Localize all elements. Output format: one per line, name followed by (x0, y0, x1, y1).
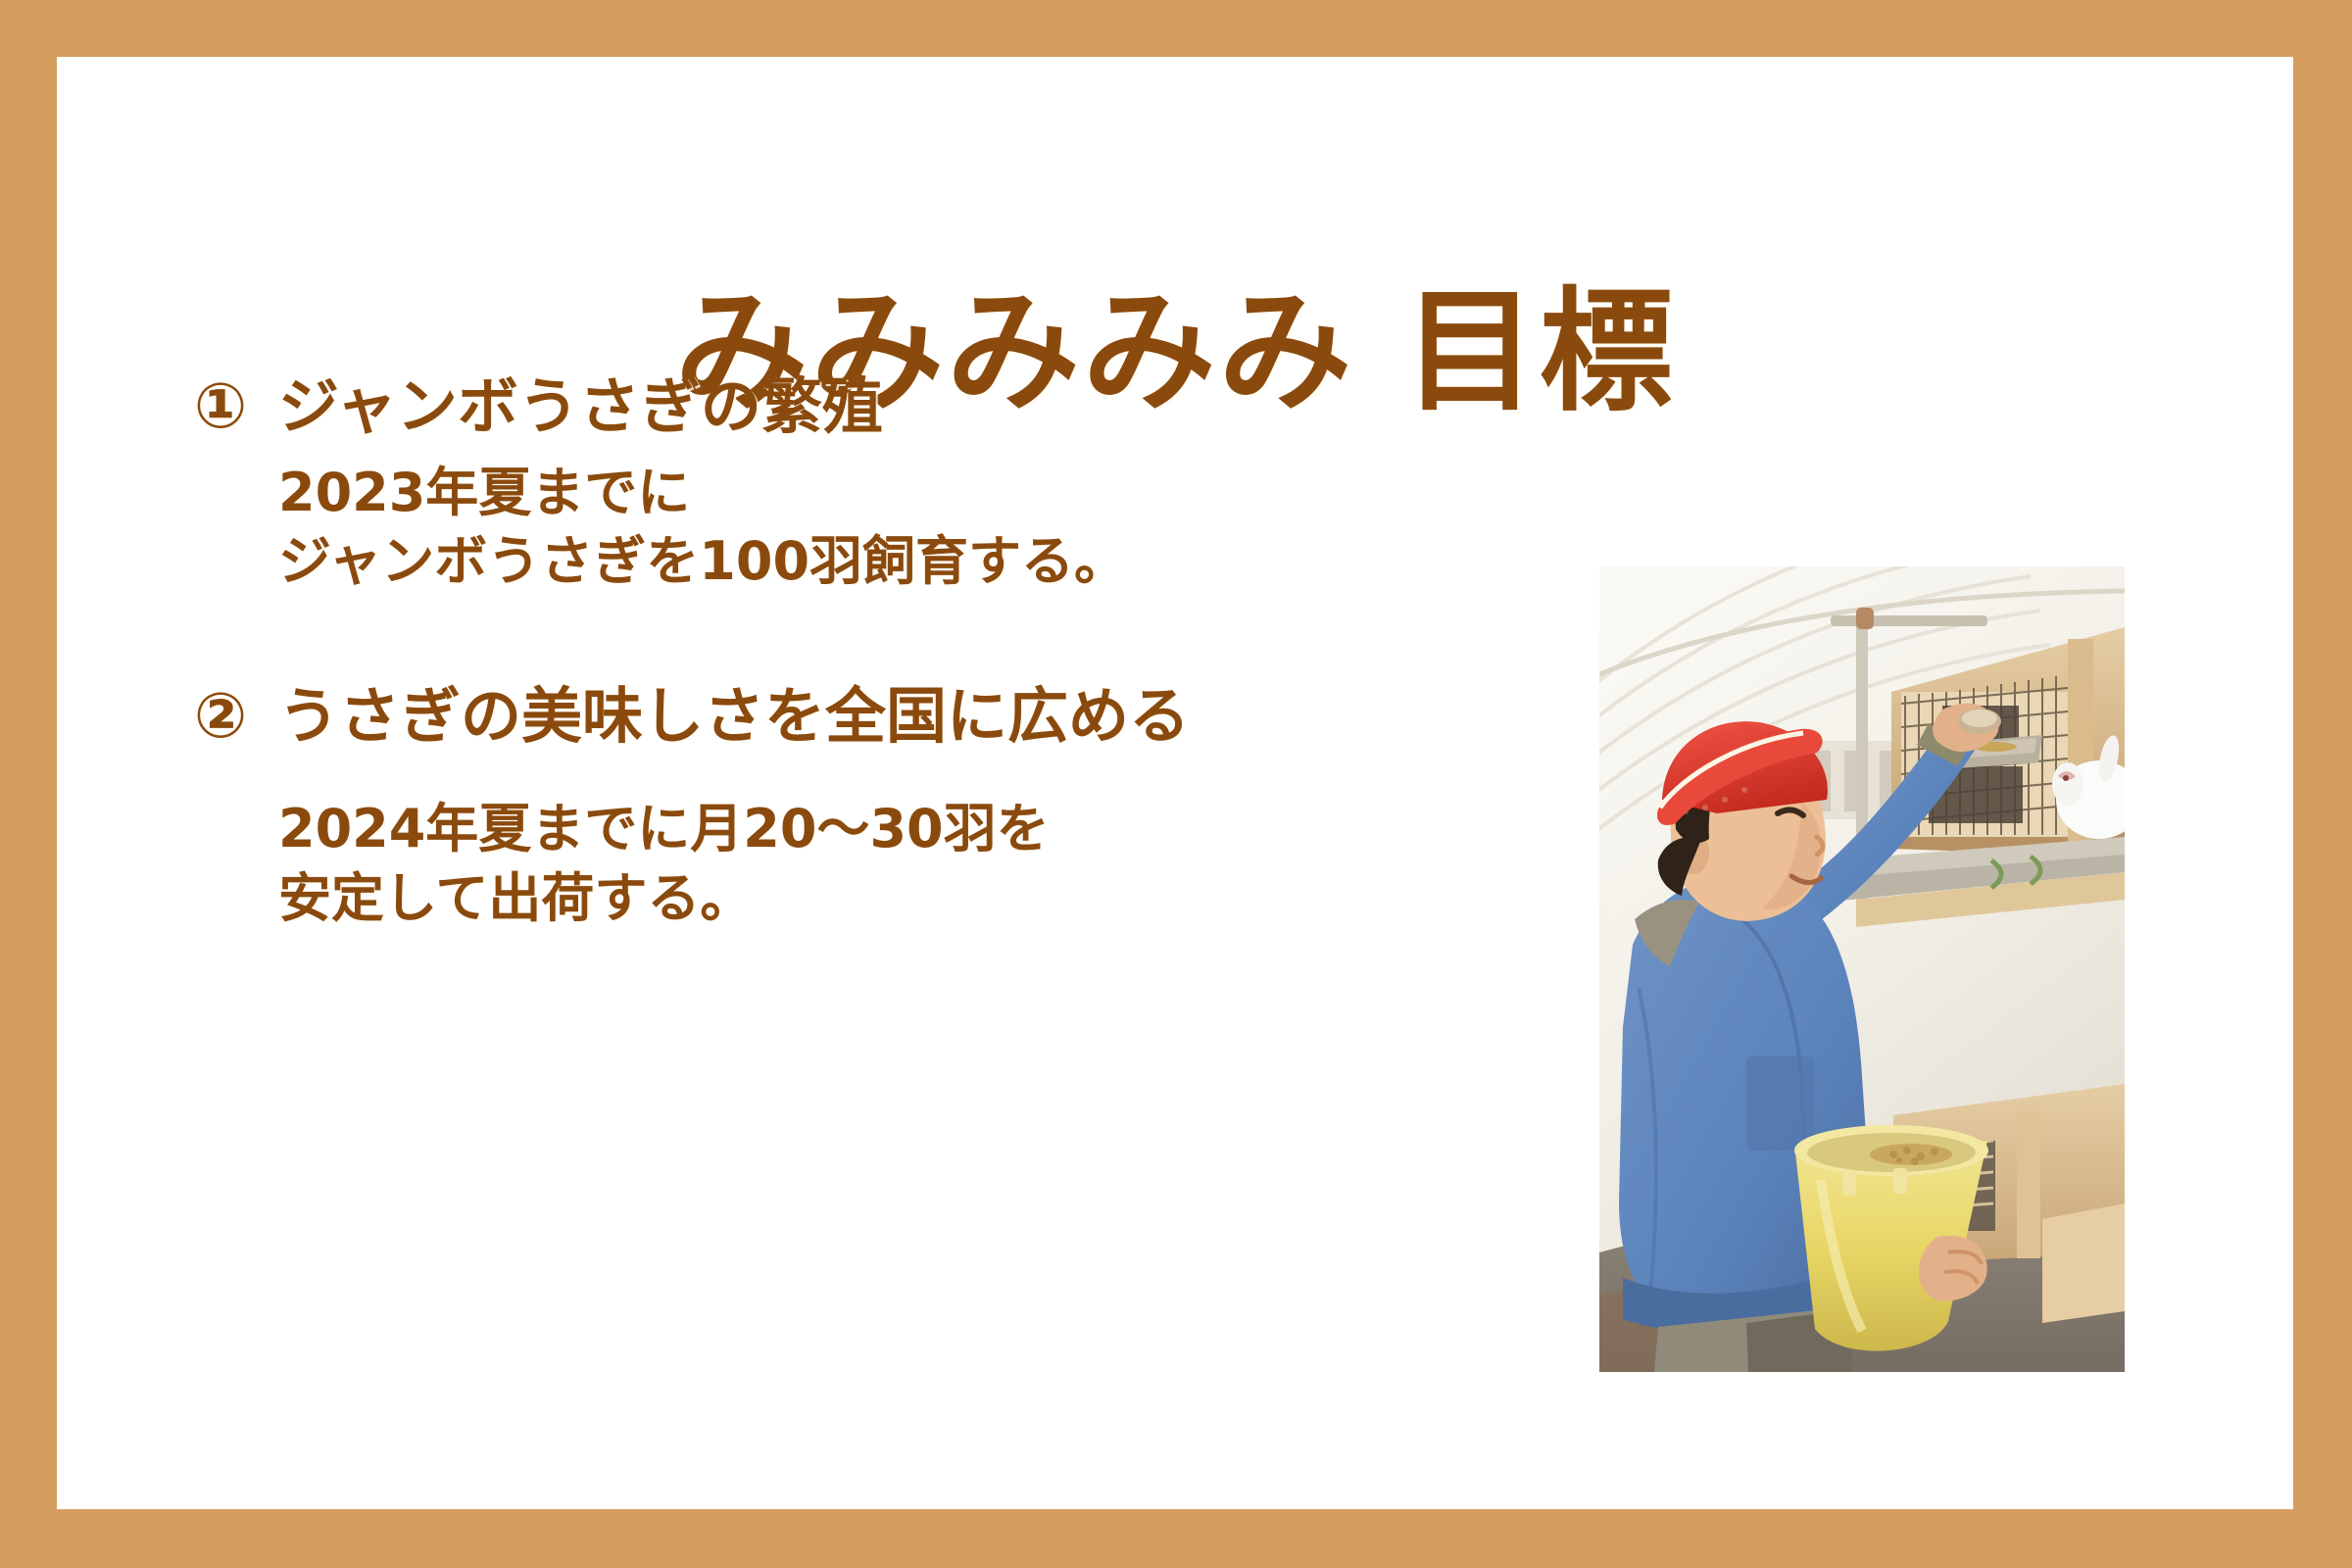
goal-headline-text-1: ジャンボうさぎの繁殖 (278, 370, 883, 442)
goal-marker-1: ① (194, 370, 278, 445)
goal-headline-2: ② うさぎの美味しさを全国に広める (194, 680, 1586, 755)
goal-detail-line: 安定して出荷する。 (278, 864, 1586, 933)
goal-list: ① ジャンボうさぎの繁殖 2023年夏までに ジャンボうさぎを100羽飼育する。… (194, 370, 1586, 933)
goal-item-1: ① ジャンボうさぎの繁殖 2023年夏までに ジャンボうさぎを100羽飼育する。 (194, 370, 1586, 596)
goal-detail-line: ジャンボうさぎを100羽飼育する。 (278, 527, 1586, 596)
slide-frame: みみみみみ 目標 ① ジャンボうさぎの繁殖 2023年夏までに ジャンボうさぎを… (0, 0, 2352, 1568)
goal-item-2: ② うさぎの美味しさを全国に広める 2024年夏までに月20〜30羽を 安定して… (194, 680, 1586, 933)
goal-detail-2: 2024年夏までに月20〜30羽を 安定して出荷する。 (278, 795, 1586, 932)
goal-headline-text-2: うさぎの美味しさを全国に広める (278, 680, 1190, 752)
goal-detail-line: 2024年夏までに月20〜30羽を (278, 795, 1586, 863)
rabbit-farm-photo (1599, 566, 2125, 1372)
goal-detail-line: 2023年夏までに (278, 459, 1586, 527)
goal-detail-1: 2023年夏までに ジャンボうさぎを100羽飼育する。 (278, 459, 1586, 596)
goal-headline-1: ① ジャンボうさぎの繁殖 (194, 370, 1586, 445)
slide-canvas: みみみみみ 目標 ① ジャンボうさぎの繁殖 2023年夏までに ジャンボうさぎを… (57, 57, 2293, 1509)
goal-marker-2: ② (194, 680, 278, 755)
